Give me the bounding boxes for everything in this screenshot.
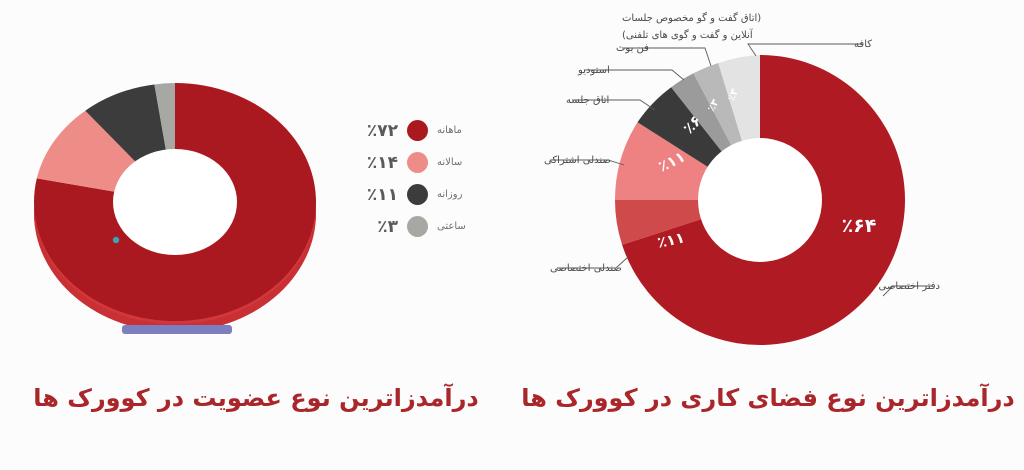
legend-value-yearly: ٪۱۴ <box>358 153 398 173</box>
legend-value-hourly: ٪۳ <box>358 217 398 237</box>
legend-item-daily[interactable]: روزانه ٪۱۱ <box>358 184 483 205</box>
workspace-chart-title: درآمدزاترین نوع فضای کاری در کوورک ها <box>512 384 1024 412</box>
callout-label-cafe: کافه <box>854 39 872 50</box>
legend-label-yearly: سالانه <box>437 157 483 168</box>
workspace-chart-panel: ٪۶۴ ٪۱۱ ٪۱۱ ٪۶ ٪۳ ٪۳ کافه دفتر اختصاصی ص… <box>512 0 1024 470</box>
callout-label-dedicated-desk: صندلی اختصاصی <box>550 263 622 274</box>
callout-label-private-office: دفتر اختصاصی <box>879 281 940 292</box>
legend-swatch-yearly <box>407 152 428 173</box>
legend-value-daily: ٪۱۱ <box>358 185 398 205</box>
legend-item-yearly[interactable]: سالانه ٪۱۴ <box>358 152 483 173</box>
slice-value-private-office: ٪۶۴ <box>842 215 877 237</box>
workspace-donut-slices <box>615 55 905 345</box>
legend-value-monthly: ٪۷۲ <box>358 121 398 141</box>
legend-label-monthly: ماهانه <box>437 125 483 136</box>
membership-chart-panel: ماهانه ٪۷۲ سالانه ٪۱۴ روزانه ٪۱۱ ساعتی ٪… <box>0 0 512 470</box>
legend-swatch-daily <box>407 184 428 205</box>
legend-label-hourly: ساعتی <box>437 221 483 232</box>
callout-label-phone-booth: فن بوث <box>616 43 649 54</box>
callout-label-shared-desk: صندلی اشتراکی <box>544 155 611 166</box>
infographic-root: ماهانه ٪۷۲ سالانه ٪۱۴ روزانه ٪۱۱ ساعتی ٪… <box>0 0 1024 470</box>
legend-swatch-hourly <box>407 216 428 237</box>
membership-legend: ماهانه ٪۷۲ سالانه ٪۱۴ روزانه ٪۱۱ ساعتی ٪… <box>358 120 483 237</box>
donut-slices <box>34 83 316 321</box>
legend-label-daily: روزانه <box>437 189 483 200</box>
legend-item-monthly[interactable]: ماهانه ٪۷۲ <box>358 120 483 141</box>
donut-hole <box>113 149 237 255</box>
callout-label-studio: استودیو <box>577 65 610 76</box>
membership-chart-title: درآمدزاترین نوع عضویت در کوورک ها <box>0 384 512 412</box>
workspace-donut-chart: ٪۶۴ ٪۱۱ ٪۱۱ ٪۶ ٪۳ ٪۳ کافه دفتر اختصاصی ص… <box>512 0 1024 350</box>
phone-booth-note-line1: (اتاق گفت و گو مخصوص جلسات <box>622 12 761 24</box>
leader-cafe <box>748 44 862 56</box>
legend-swatch-monthly <box>407 120 428 141</box>
legend-item-hourly[interactable]: ساعتی ٪۳ <box>358 216 483 237</box>
slice-marker-dot <box>113 237 119 243</box>
callout-label-meeting-room: اتاق جلسه <box>566 95 609 106</box>
phone-booth-note-line2: آنلاین و گفت و گوی های تلفنی) <box>622 28 754 41</box>
workspace-donut-hole <box>698 138 822 262</box>
